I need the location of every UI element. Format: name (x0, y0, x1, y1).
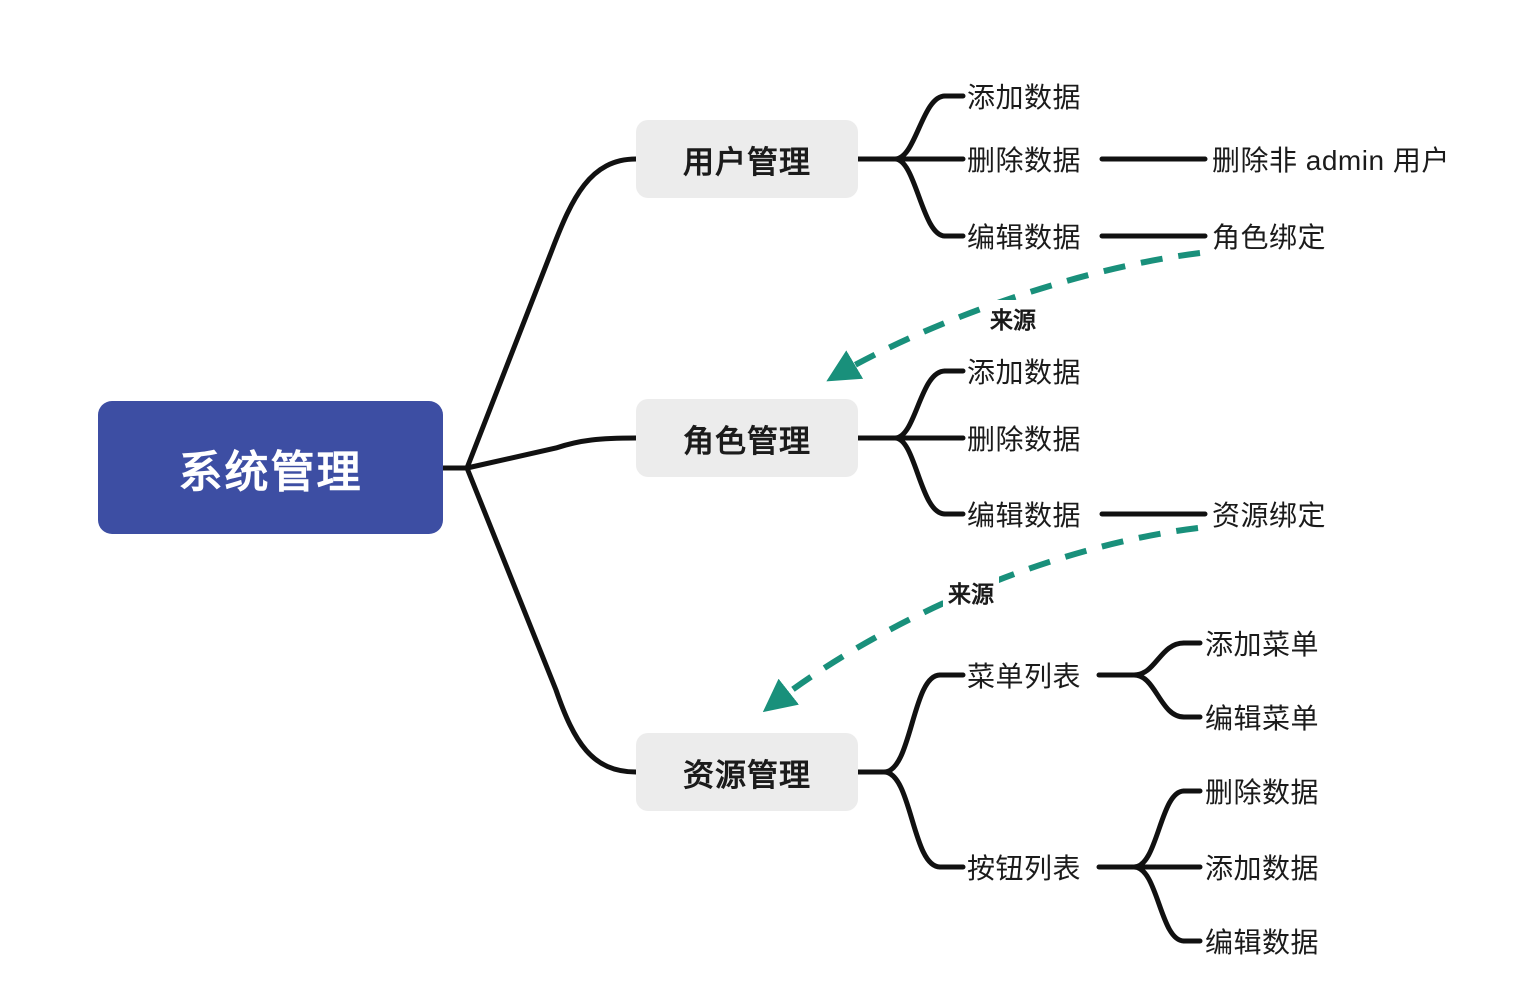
node-label: 编辑菜单 (1205, 697, 1319, 737)
node-branch-role-management[interactable]: 角色管理 (636, 399, 858, 477)
node-label: 用户管理 (683, 137, 811, 182)
node-menu-edit[interactable]: 编辑菜单 (1205, 697, 1333, 737)
node-label: 资源管理 (683, 750, 811, 795)
node-menu-list[interactable]: 菜单列表 (967, 655, 1095, 695)
edge-menu-edit (1134, 675, 1184, 717)
node-user-delete-data[interactable]: 删除数据 (967, 139, 1095, 179)
node-label: 添加数据 (967, 76, 1081, 116)
edge-user-add (895, 96, 945, 159)
node-label: 编辑数据 (1205, 921, 1319, 961)
node-label: 删除数据 (1205, 771, 1319, 811)
cross-link-label-role-source: 来源 (985, 300, 1041, 336)
root-edges (443, 159, 636, 772)
edge-resource-to-menulist (884, 675, 940, 772)
node-menu-add[interactable]: 添加菜单 (1205, 623, 1333, 663)
edge-resource-to-buttonlist (884, 772, 940, 867)
edge-root-to-resource (467, 468, 636, 772)
label-text: 来源 (948, 581, 994, 607)
node-label: 添加数据 (1205, 847, 1319, 887)
node-delete-non-admin-user[interactable]: 删除非 admin 用户 (1212, 139, 1472, 179)
node-role-add-data[interactable]: 添加数据 (967, 351, 1095, 391)
edge-root-to-role (467, 438, 636, 468)
cross-link-label-resource-source: 来源 (943, 574, 999, 610)
node-label: 角色绑定 (1212, 216, 1326, 256)
node-resource-binding[interactable]: 资源绑定 (1212, 494, 1340, 534)
node-label: 删除数据 (967, 418, 1081, 458)
node-label: 资源绑定 (1212, 494, 1326, 534)
edge-role-add (895, 371, 945, 438)
edge-menu-add (1134, 643, 1184, 675)
node-branch-user-management[interactable]: 用户管理 (636, 120, 858, 198)
node-label: 按钮列表 (967, 847, 1081, 887)
node-label: 添加菜单 (1205, 623, 1319, 663)
node-label: 删除数据 (967, 139, 1081, 179)
node-label: 角色管理 (683, 416, 811, 461)
node-button-edit-data[interactable]: 编辑数据 (1205, 921, 1333, 961)
node-label: 编辑数据 (967, 494, 1081, 534)
cross-link-edges (768, 253, 1200, 708)
node-root-system-management[interactable]: 系统管理 (98, 401, 443, 534)
node-label: 删除非 admin 用户 (1212, 139, 1450, 179)
node-button-list[interactable]: 按钮列表 (967, 847, 1095, 887)
node-label: 添加数据 (967, 351, 1081, 391)
node-label: 菜单列表 (967, 655, 1081, 695)
node-role-edit-data[interactable]: 编辑数据 (967, 494, 1095, 534)
edge-btn-del (1134, 791, 1184, 867)
node-branch-resource-management[interactable]: 资源管理 (636, 733, 858, 811)
edge-user-edit (895, 159, 945, 236)
node-button-add-data[interactable]: 添加数据 (1205, 847, 1333, 887)
label-text: 来源 (990, 307, 1036, 333)
node-label: 编辑数据 (967, 216, 1081, 256)
edge-btn-edit (1134, 867, 1184, 941)
node-user-edit-data[interactable]: 编辑数据 (967, 216, 1095, 256)
node-user-add-data[interactable]: 添加数据 (967, 76, 1095, 116)
edge-root-to-user (467, 159, 636, 468)
node-label: 系统管理 (179, 436, 363, 500)
edge-role-edit (895, 438, 945, 514)
node-role-binding[interactable]: 角色绑定 (1212, 216, 1340, 256)
node-button-delete-data[interactable]: 删除数据 (1205, 771, 1333, 811)
mindmap-canvas: 系统管理 用户管理 添加数据 删除数据 编辑数据 删除非 admin 用户 角色… (0, 0, 1532, 988)
node-role-delete-data[interactable]: 删除数据 (967, 418, 1095, 458)
